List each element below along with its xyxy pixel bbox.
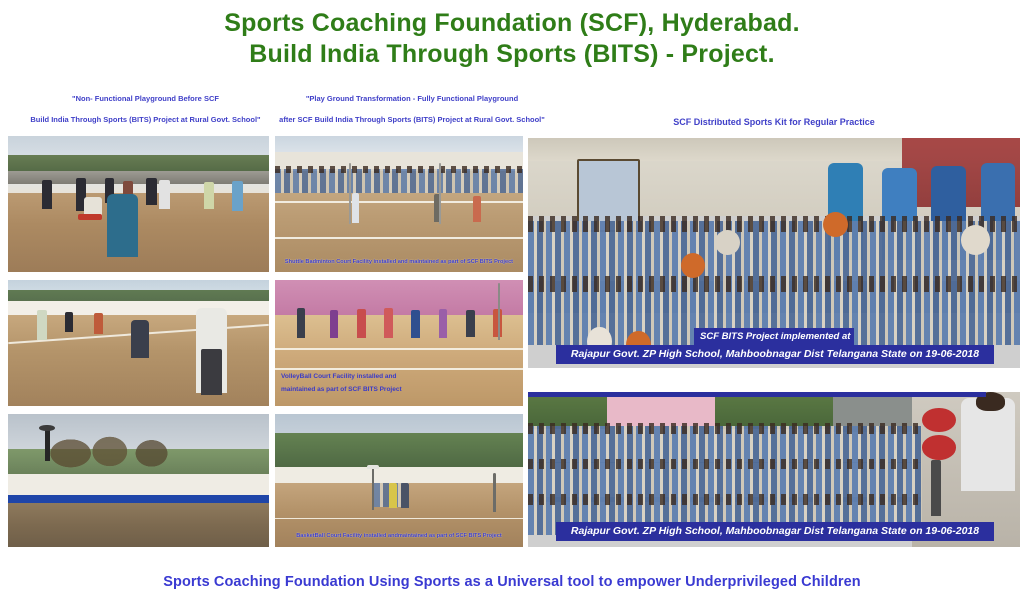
basketball-banner: BasketBall Court Facility installed andm… [275, 530, 523, 543]
volleyball-banner-line-1: VolleyBall Court Facility installed and [281, 372, 396, 381]
volleyball-banner-line-2: maintained as part of SCF BITS Project [281, 385, 402, 394]
sports-kit-distribution-photo: SCF BITS Project implemented at Rajapur … [528, 138, 1020, 368]
left-column-caption-line-2: Build India Through Sports (BITS) Projec… [8, 114, 283, 125]
footer-tagline: Sports Coaching Foundation Using Sports … [0, 574, 1024, 590]
poster-canvas: Sports Coaching Foundation (SCF), Hydera… [0, 0, 1024, 595]
pitching-machine-banner: SCF exposing Rural Children to imported … [528, 392, 986, 397]
title-line-1: Sports Coaching Foundation (SCF), Hydera… [0, 8, 1024, 39]
playground-marking-photo [8, 280, 269, 406]
middle-column-caption-line-1: "Play Ground Transformation - Fully Func… [272, 93, 552, 104]
pitching-machine-photo: SCF exposing Rural Children to imported … [528, 392, 1020, 547]
left-column-caption-line-1: "Non- Functional Playground Before SCF [8, 93, 283, 104]
badminton-court-photo: Shuttle Badminton Court Facility install… [275, 136, 523, 272]
kit-implemented-banner: SCF BITS Project implemented at [694, 328, 854, 345]
pitching-school-banner: Rajapur Govt. ZP High School, Mahboobnag… [556, 522, 994, 541]
basketball-court-photo: BasketBall Court Facility installed andm… [275, 414, 523, 547]
badminton-banner: Shuttle Badminton Court Facility install… [275, 256, 523, 269]
right-column-caption: SCF Distributed Sports Kit for Regular P… [528, 117, 1020, 128]
left-column-caption: "Non- Functional Playground Before SCF B… [8, 93, 283, 125]
page-title: Sports Coaching Foundation (SCF), Hydera… [0, 8, 1024, 70]
title-line-2: Build India Through Sports (BITS) - Proj… [0, 39, 1024, 70]
bare-ground-wall-photo [8, 414, 269, 547]
non-functional-playground-photo [8, 136, 269, 272]
middle-column-caption: "Play Ground Transformation - Fully Func… [272, 93, 552, 125]
right-column-caption-line-1: SCF Distributed Sports Kit for Regular P… [528, 117, 1020, 128]
volleyball-court-photo: VolleyBall Court Facility installed and … [275, 280, 523, 406]
kit-school-banner: Rajapur Govt. ZP High School, Mahboobnag… [556, 345, 994, 364]
middle-column-caption-line-2: after SCF Build India Through Sports (BI… [272, 114, 552, 125]
